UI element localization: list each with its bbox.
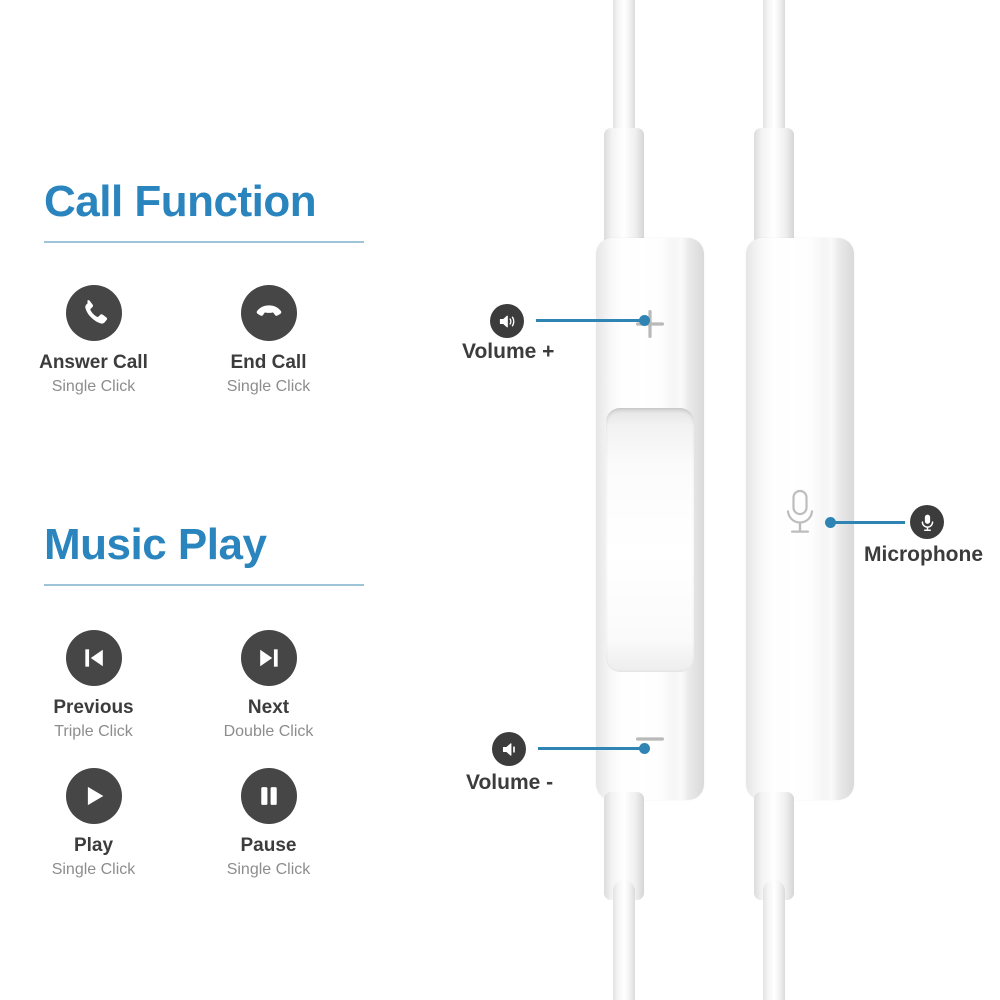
strain-relief-upper-right <box>754 128 794 246</box>
phone-hangup-icon <box>241 285 297 341</box>
play-icon <box>66 768 122 824</box>
leader-line <box>538 747 646 750</box>
remote-control-right <box>746 238 854 800</box>
center-multifunction-button[interactable] <box>606 408 694 672</box>
feature-sub: Triple Click <box>6 723 181 741</box>
leader-line <box>536 319 646 322</box>
callout-label: Microphone <box>864 543 983 567</box>
feature-name: End Call <box>181 353 356 374</box>
feature-sub: Single Click <box>6 861 181 879</box>
feature-name: Pause <box>181 836 356 857</box>
feature-name: Previous <box>6 698 181 719</box>
feature-name: Play <box>6 836 181 857</box>
volume-up-button[interactable] <box>632 306 668 347</box>
section-divider <box>44 241 364 243</box>
feature-name: Next <box>181 698 356 719</box>
feature-end-call: End Call Single Click <box>181 285 356 395</box>
music-play-feature-grid-row1: Previous Triple Click Next Double Click <box>6 630 356 740</box>
section-call-function: Call Function <box>44 180 364 243</box>
earphone-product-photo <box>430 0 1000 1000</box>
leader-dot <box>639 743 650 754</box>
feature-name: Answer Call <box>6 353 181 374</box>
leader-dot <box>639 315 650 326</box>
microphone-port <box>780 488 820 541</box>
microphone-icon <box>910 505 944 539</box>
feature-next: Next Double Click <box>181 630 356 740</box>
cable-lower-left <box>613 880 635 1000</box>
product-infographic: Call Function Answer Call Single Click E… <box>0 0 1000 1000</box>
call-function-feature-grid: Answer Call Single Click End Call Single… <box>6 285 356 395</box>
section-title: Call Function <box>44 180 364 224</box>
section-music-play: Music Play <box>44 523 364 586</box>
speaker-volume-up-icon <box>490 304 524 338</box>
feature-play: Play Single Click <box>6 768 181 878</box>
speaker-volume-down-icon <box>492 732 526 766</box>
callout-label: Volume - <box>466 771 553 795</box>
feature-previous: Previous Triple Click <box>6 630 181 740</box>
feature-pause: Pause Single Click <box>181 768 356 878</box>
skip-previous-icon <box>66 630 122 686</box>
music-play-feature-grid-row2: Play Single Click Pause Single Click <box>6 768 356 878</box>
feature-sub: Single Click <box>181 861 356 879</box>
strain-relief-upper-left <box>604 128 644 246</box>
pause-icon <box>241 768 297 824</box>
feature-answer-call: Answer Call Single Click <box>6 285 181 395</box>
section-divider <box>44 584 364 586</box>
feature-sub: Double Click <box>181 723 356 741</box>
remote-control-left <box>596 238 704 800</box>
leader-line <box>833 521 905 524</box>
skip-next-icon <box>241 630 297 686</box>
callout-label: Volume + <box>462 340 554 364</box>
section-title: Music Play <box>44 523 364 567</box>
feature-sub: Single Click <box>181 378 356 396</box>
phone-answer-icon <box>66 285 122 341</box>
feature-sub: Single Click <box>6 378 181 396</box>
cable-lower-right <box>763 880 785 1000</box>
